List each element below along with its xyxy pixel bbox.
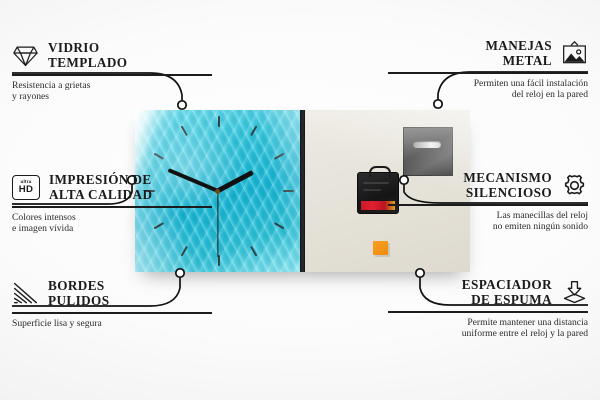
feature-title: MANEJAS METAL (485, 38, 552, 68)
mechanism-detail (363, 182, 389, 184)
feature-desc-line2: uniforme entre el reloj y la pared (388, 328, 588, 339)
connector-dot-manejas (434, 100, 442, 108)
feature-title-line2: TEMPLADO (48, 55, 127, 70)
clock-tick (250, 126, 257, 137)
feature-title-line1: IMPRESIÓN DE (49, 172, 152, 187)
feature-title-line1: BORDES (48, 278, 109, 293)
feature-mecanismo-silencioso: MECANISMO SILENCIOSO Las manecillas del … (388, 170, 588, 232)
feature-desc-line2: e imagen vívida (12, 223, 212, 234)
feature-divider (12, 312, 212, 314)
feature-title: BORDES PULIDOS (48, 278, 109, 308)
feature-title-line2: DE ESPUMA (462, 292, 552, 307)
feature-description: Resistencia a grietas y rayones (12, 80, 212, 103)
feature-title-line2: METAL (485, 53, 552, 68)
ultra-hd-icon-main-text: HD (19, 185, 33, 195)
clock-hour-hand (216, 170, 254, 193)
feature-divider (388, 204, 588, 206)
feature-bordes-pulidos: BORDES PULIDOS Superficie lisa y segura (12, 278, 212, 329)
foam-spacer-icon (561, 280, 588, 305)
feature-divider (388, 72, 588, 74)
clock-pivot (215, 189, 220, 194)
feature-title: ESPACIADOR DE ESPUMA (462, 277, 552, 307)
feature-desc-line1: Las manecillas del reloj (388, 210, 588, 221)
feature-divider (388, 311, 588, 313)
clock-tick (283, 190, 294, 192)
diamond-icon (12, 43, 39, 68)
feature-title: MECANISMO SILENCIOSO (463, 170, 552, 200)
feature-title-line2: PULIDOS (48, 293, 109, 308)
feature-title-line1: ESPACIADOR (462, 277, 552, 292)
feature-desc-line1: Permiten una fácil instalación (388, 78, 588, 89)
feature-description: Superficie lisa y segura (12, 318, 212, 329)
feature-description: Colores intensos e imagen vívida (12, 212, 212, 235)
polished-edge-icon (12, 281, 39, 306)
feature-desc-line1: Colores intensos (12, 212, 212, 223)
feature-desc-line1: Superficie lisa y segura (12, 318, 212, 329)
clock-tick (273, 222, 284, 229)
feature-desc-line2: y rayones (12, 91, 212, 102)
clock-tick (153, 153, 164, 160)
clock-tick (180, 246, 187, 257)
clock-tick (180, 126, 187, 137)
feature-title-line1: VIDRIO (48, 40, 127, 55)
feature-title: IMPRESIÓN DE ALTA CALIDAD (49, 172, 152, 202)
feature-divider (12, 74, 212, 76)
metal-hanger-plate (403, 127, 453, 176)
feature-vidrio-templado: VIDRIO TEMPLADO Resistencia a grietas y … (12, 40, 212, 102)
feature-desc-line1: Permite mantener una distancia (388, 317, 588, 328)
feature-title-line2: ALTA CALIDAD (49, 187, 152, 202)
clock-tick (273, 153, 284, 160)
feature-desc-line2: no emiten ningún sonido (388, 221, 588, 232)
feature-divider (12, 206, 212, 208)
feature-title: VIDRIO TEMPLADO (48, 40, 127, 70)
gear-icon (561, 173, 588, 198)
feature-title-line1: MECANISMO (463, 170, 552, 185)
feature-description: Permiten una fácil instalación del reloj… (388, 78, 588, 101)
clock-tick (218, 116, 220, 127)
feature-title-line2: SILENCIOSO (463, 185, 552, 200)
feature-description: Las manecillas del reloj no emiten ningú… (388, 210, 588, 233)
ultra-hd-icon: ultra HD (12, 175, 40, 200)
feature-impresion-alta-calidad: ultra HD IMPRESIÓN DE ALTA CALIDAD Color… (12, 172, 212, 234)
mechanism-detail (363, 189, 381, 191)
feature-title-line1: MANEJAS (485, 38, 552, 53)
hanger-slot (413, 141, 441, 148)
feature-manejas-metal: MANEJAS METAL Permiten una fácil instala… (388, 38, 588, 100)
feature-description: Permite mantener una distancia uniforme … (388, 317, 588, 340)
infographic-canvas: VIDRIO TEMPLADO Resistencia a grietas y … (0, 0, 600, 400)
feature-desc-line2: del reloj en la pared (388, 89, 588, 100)
foam-spacer (373, 241, 388, 255)
clock-tick (250, 246, 257, 257)
clock-second-hand (217, 191, 218, 257)
feature-espaciador-de-espuma: ESPACIADOR DE ESPUMA Permite mantener un… (388, 277, 588, 339)
feature-desc-line1: Resistencia a grietas (12, 80, 212, 91)
picture-hanger-icon (561, 41, 588, 66)
